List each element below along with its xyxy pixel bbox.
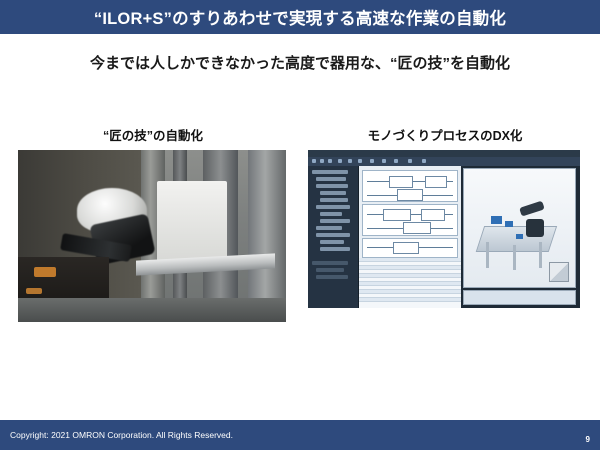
toolbar-icon — [394, 159, 398, 163]
toolbar-icon — [422, 159, 426, 163]
software-project-tree — [308, 166, 359, 308]
photo-floor — [18, 298, 286, 322]
software-output-panel — [463, 290, 576, 305]
tree-item — [316, 268, 344, 272]
toolbar-icon — [320, 159, 324, 163]
ladder-instruction — [397, 189, 423, 201]
caption-left: “匠の技”の自動化 — [18, 125, 288, 144]
photo-white-housing — [157, 181, 227, 267]
sim-blue-part — [505, 221, 513, 227]
tree-item — [320, 240, 344, 244]
screenshot-engineering-software — [308, 150, 580, 308]
tree-item — [316, 205, 350, 209]
tree-item — [312, 261, 348, 265]
tree-item — [316, 226, 342, 230]
photo-orange-part-1 — [34, 267, 55, 277]
page-title: “ILOR+S”のすりあわせで実現する高速な作業の自動化 — [94, 5, 506, 29]
table-row — [359, 298, 461, 302]
toolbar-icon — [348, 159, 352, 163]
copyright-text: Copyright: 2021 OMRON Corporation. All R… — [10, 430, 233, 440]
tree-item — [320, 212, 342, 216]
toolbar-icon — [370, 159, 374, 163]
tree-item — [320, 219, 350, 223]
software-window — [308, 150, 580, 308]
sim-table-leg — [539, 242, 542, 268]
toolbar-icon — [408, 159, 412, 163]
photo-pillar-4 — [248, 150, 286, 322]
sim-blue-part — [516, 234, 523, 239]
photo-orange-part-2 — [26, 288, 42, 295]
toolbar-icon — [312, 159, 316, 163]
title-bar: “ILOR+S”のすりあわせで実現する高速な作業の自動化 — [0, 0, 600, 34]
ladder-rung-group — [362, 204, 458, 236]
page-number: 9 — [586, 435, 590, 444]
caption-right: モノづくりプロセスのDX化 — [310, 125, 580, 144]
sim-robot-base — [526, 219, 544, 238]
ladder-instruction — [425, 176, 447, 188]
ladder-instruction — [389, 176, 413, 188]
toolbar-icon — [382, 159, 386, 163]
software-variable-table — [359, 258, 461, 308]
ladder-rung-group — [362, 170, 458, 202]
tree-item — [312, 170, 348, 174]
ladder-instruction — [383, 209, 411, 221]
tree-item — [320, 247, 350, 251]
tree-item — [316, 233, 350, 237]
sim-blue-part — [491, 216, 502, 224]
software-3d-simulation-view — [463, 168, 576, 288]
toolbar-icon — [328, 159, 332, 163]
subtitle: 今までは人しかできなかった高度で器用な、“匠の技”を自動化 — [0, 52, 600, 73]
ladder-instruction — [393, 242, 419, 254]
slide: “ILOR+S”のすりあわせで実現する高速な作業の自動化 今までは人しかできなか… — [0, 0, 600, 450]
tree-item — [320, 191, 346, 195]
tree-item — [320, 198, 348, 202]
ladder-instruction — [421, 209, 445, 221]
tree-item — [316, 275, 348, 279]
photo-robot-cell — [18, 150, 286, 322]
sim-robot-arm — [519, 201, 545, 218]
ladder-rung-group — [362, 238, 458, 258]
tree-item — [316, 184, 348, 188]
toolbar-icon — [338, 159, 342, 163]
sim-table-leg — [513, 245, 516, 271]
sim-table-leg — [486, 242, 489, 268]
tree-item — [316, 177, 346, 181]
view-orientation-cube-icon[interactable] — [549, 262, 569, 282]
ladder-instruction — [403, 222, 431, 234]
footer-bar: Copyright: 2021 OMRON Corporation. All R… — [0, 420, 600, 450]
software-toolbar — [308, 157, 580, 166]
toolbar-icon — [358, 159, 362, 163]
